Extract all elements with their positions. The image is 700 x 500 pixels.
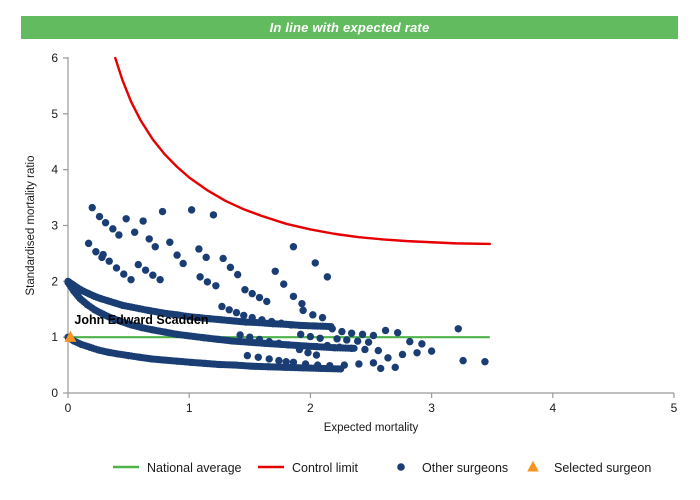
legend-item-national-average[interactable]: National average xyxy=(113,461,242,475)
scatter-point[interactable] xyxy=(309,311,316,318)
scatter-point[interactable] xyxy=(319,314,326,321)
scatter-point[interactable] xyxy=(218,303,225,310)
scatter-point[interactable] xyxy=(290,359,297,366)
plot-area: 0123456012345Expected mortalityStandardi… xyxy=(0,0,700,500)
x-tick-label-0: 0 xyxy=(65,401,72,415)
x-tick-label-5: 5 xyxy=(671,401,678,415)
scatter-point[interactable] xyxy=(278,320,285,327)
scatter-point[interactable] xyxy=(152,243,159,250)
scatter-point[interactable] xyxy=(265,338,272,345)
scatter-point[interactable] xyxy=(96,213,103,220)
scatter-point[interactable] xyxy=(285,341,292,348)
scatter-point[interactable] xyxy=(413,349,420,356)
legend-item-control-limit[interactable]: Control limit xyxy=(258,461,359,475)
scatter-point[interactable] xyxy=(375,347,382,354)
scatter-point[interactable] xyxy=(333,335,340,342)
scatter-point[interactable] xyxy=(299,307,306,314)
scatter-point[interactable] xyxy=(256,336,263,343)
y-tick-label-0: 0 xyxy=(51,386,58,400)
scatter-point[interactable] xyxy=(89,204,96,211)
legend-dot-swatch xyxy=(397,463,405,471)
scatter-point[interactable] xyxy=(246,333,253,340)
scatter-point[interactable] xyxy=(290,243,297,250)
scatter-point[interactable] xyxy=(312,259,319,266)
scatter-point[interactable] xyxy=(268,318,275,325)
control-limit-curve xyxy=(115,58,490,244)
scatter-point[interactable] xyxy=(377,365,384,372)
scatter-point[interactable] xyxy=(258,316,265,323)
scatter-point[interactable] xyxy=(313,351,320,358)
scatter-point[interactable] xyxy=(365,338,372,345)
scatter-point[interactable] xyxy=(173,251,180,258)
scatter-point[interactable] xyxy=(455,325,462,332)
scatter-point[interactable] xyxy=(275,357,282,364)
scatter-point[interactable] xyxy=(370,332,377,339)
scatter-point[interactable] xyxy=(316,335,323,342)
scatter-point[interactable] xyxy=(282,358,289,365)
other-surgeons-series xyxy=(85,204,489,372)
y-tick-label-6: 6 xyxy=(51,51,58,65)
selected-surgeon-annotation: John Edward Scadden xyxy=(74,313,208,327)
y-tick-label-3: 3 xyxy=(51,219,58,233)
scatter-point[interactable] xyxy=(249,314,256,321)
y-tick-label-4: 4 xyxy=(51,163,58,177)
scatter-point[interactable] xyxy=(428,347,435,354)
legend-label: National average xyxy=(147,461,242,475)
scatter-point[interactable] xyxy=(314,361,321,368)
scatter-point[interactable] xyxy=(287,321,294,328)
scatter-point[interactable] xyxy=(212,282,219,289)
scatter-point[interactable] xyxy=(241,286,248,293)
scatter-point[interactable] xyxy=(348,345,355,352)
scatter-point[interactable] xyxy=(324,273,331,280)
scatter-point[interactable] xyxy=(99,251,106,258)
scatter-point[interactable] xyxy=(236,331,243,338)
scatter-point[interactable] xyxy=(399,351,406,358)
scatter-point[interactable] xyxy=(202,254,209,261)
scatter-point[interactable] xyxy=(263,298,270,305)
x-tick-label-4: 4 xyxy=(549,401,556,415)
scatter-point[interactable] xyxy=(304,349,311,356)
scatter-point[interactable] xyxy=(361,346,368,353)
scatter-point[interactable] xyxy=(249,290,256,297)
scatter-point[interactable] xyxy=(204,278,211,285)
scatter-point[interactable] xyxy=(481,358,488,365)
legend-label: Selected surgeon xyxy=(554,461,651,475)
y-tick-label-5: 5 xyxy=(51,107,58,121)
scatter-point[interactable] xyxy=(307,333,314,340)
scatter-point[interactable] xyxy=(102,219,109,226)
scatter-point[interactable] xyxy=(275,340,282,347)
scatter-point[interactable] xyxy=(195,245,202,252)
scatter-point[interactable] xyxy=(280,280,287,287)
scatter-point[interactable] xyxy=(370,359,377,366)
x-tick-label-1: 1 xyxy=(186,401,193,415)
scatter-point[interactable] xyxy=(348,330,355,337)
scatter-point[interactable] xyxy=(290,293,297,300)
x-axis-title: Expected mortality xyxy=(324,422,419,434)
scatter-point[interactable] xyxy=(338,328,345,335)
scatter-point[interactable] xyxy=(418,340,425,347)
scatter-point[interactable] xyxy=(188,206,195,213)
legend-label: Control limit xyxy=(292,461,359,475)
chart-canvas: 0123456012345Expected mortalityStandardi… xyxy=(0,0,700,500)
scatter-point[interactable] xyxy=(392,364,399,371)
scatter-point[interactable] xyxy=(166,239,173,246)
scatter-point[interactable] xyxy=(92,248,99,255)
scatter-point[interactable] xyxy=(225,306,232,313)
scatter-point[interactable] xyxy=(179,260,186,267)
scatter-point[interactable] xyxy=(297,331,304,338)
scatter-point[interactable] xyxy=(256,294,263,301)
scatter-point[interactable] xyxy=(113,264,120,271)
scatter-point[interactable] xyxy=(341,361,348,368)
scatter-point[interactable] xyxy=(234,271,241,278)
scatter-point[interactable] xyxy=(233,309,240,316)
scatter-point[interactable] xyxy=(382,327,389,334)
y-tick-label-1: 1 xyxy=(51,330,58,344)
scatter-point[interactable] xyxy=(159,208,166,215)
x-tick-label-2: 2 xyxy=(307,401,314,415)
y-tick-label-2: 2 xyxy=(51,274,58,288)
scatter-point[interactable] xyxy=(135,261,142,268)
scatter-point[interactable] xyxy=(227,264,234,271)
scatter-point[interactable] xyxy=(127,276,134,283)
scatter-point[interactable] xyxy=(149,271,156,278)
scatter-point[interactable] xyxy=(459,357,466,364)
scatter-point[interactable] xyxy=(272,268,279,275)
scatter-point[interactable] xyxy=(131,229,138,236)
legend-item-other-surgeons[interactable]: Other surgeons xyxy=(397,461,508,475)
legend-triangle-swatch xyxy=(527,461,538,472)
scatter-point[interactable] xyxy=(406,338,413,345)
scatter-point[interactable] xyxy=(122,215,129,222)
scatter-point[interactable] xyxy=(210,211,217,218)
scatter-point[interactable] xyxy=(329,325,336,332)
scatter-point[interactable] xyxy=(394,329,401,336)
scatter-point[interactable] xyxy=(196,273,203,280)
x-tick-label-3: 3 xyxy=(428,401,435,415)
scatter-point[interactable] xyxy=(302,360,309,367)
legend-label: Other surgeons xyxy=(422,461,508,475)
scatter-point[interactable] xyxy=(355,360,362,367)
scatter-point[interactable] xyxy=(109,225,116,232)
scatter-point[interactable] xyxy=(265,355,272,362)
scatter-point[interactable] xyxy=(336,344,343,351)
scatter-point[interactable] xyxy=(106,258,113,265)
scatter-point[interactable] xyxy=(156,276,163,283)
scatter-point[interactable] xyxy=(296,346,303,353)
scatter-point[interactable] xyxy=(240,312,247,319)
scatter-point[interactable] xyxy=(255,354,262,361)
scatter-point[interactable] xyxy=(142,266,149,273)
scatter-point[interactable] xyxy=(384,354,391,361)
scatter-point[interactable] xyxy=(359,331,366,338)
funnel-plot-chart: In line with expected rate 0123456012345… xyxy=(0,0,700,500)
scatter-point[interactable] xyxy=(120,270,127,277)
scatter-point[interactable] xyxy=(298,300,305,307)
scatter-point[interactable] xyxy=(115,231,122,238)
legend-item-selected-surgeon[interactable]: Selected surgeon xyxy=(527,461,651,475)
scatter-point[interactable] xyxy=(326,362,333,369)
scatter-point[interactable] xyxy=(244,352,251,359)
scatter-point[interactable] xyxy=(343,336,350,343)
scatter-point[interactable] xyxy=(85,240,92,247)
y-axis-title: Standardised mortality ratio xyxy=(25,156,37,296)
scatter-point[interactable] xyxy=(139,217,146,224)
scatter-point[interactable] xyxy=(354,337,361,344)
scatter-point[interactable] xyxy=(324,342,331,349)
scatter-point[interactable] xyxy=(219,255,226,262)
scatter-point[interactable] xyxy=(146,235,153,242)
